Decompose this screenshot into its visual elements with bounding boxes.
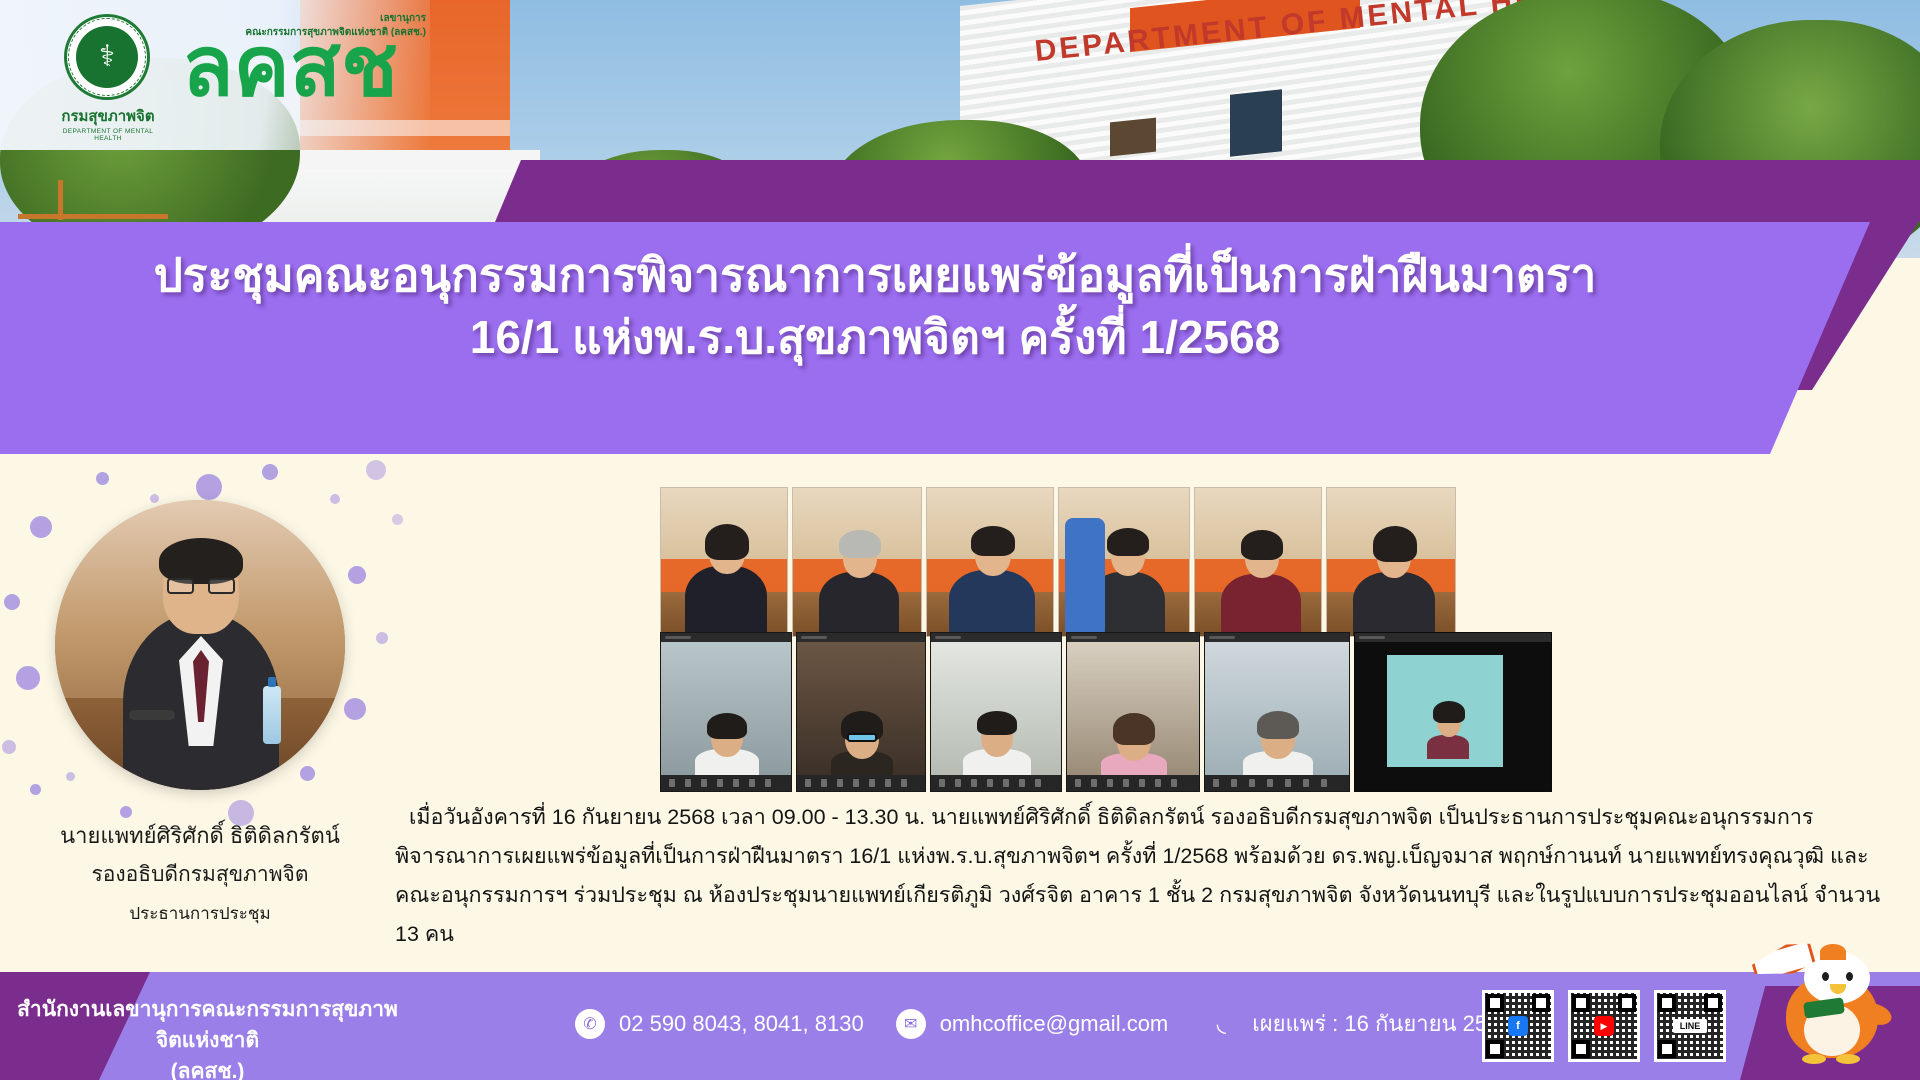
- line-icon: LINE: [1673, 1019, 1707, 1033]
- page-title-line1: ประชุมคณะอนุกรรมการพิจารณาการเผยแพร่ข้อม…: [0, 244, 1750, 306]
- building-window-small: [1110, 118, 1156, 157]
- youtube-icon: ▶: [1594, 1016, 1614, 1036]
- mascot-icon: [1760, 946, 1910, 1080]
- footer-phone[interactable]: 02 590 8043, 8041, 8130: [619, 1011, 864, 1037]
- meeting-description: เมื่อวันอังคารที่ 16 กันยายน 2568 เวลา 0…: [395, 798, 1895, 954]
- chairperson-position: รองอธิบดีกรมสุขภาพจิต: [0, 858, 400, 891]
- meeting-photo: [792, 487, 922, 637]
- facebook-qr[interactable]: f: [1482, 990, 1554, 1062]
- meeting-photo: [1058, 487, 1190, 637]
- seal-caption: กรมสุขภาพจิต DEPARTMENT OF MENTAL HEALTH: [52, 104, 164, 142]
- phone-icon: ✆: [575, 1009, 605, 1039]
- footer-qr-codes: f ▶ LINE: [1482, 990, 1726, 1062]
- chairperson-role: ประธานการประชุม: [0, 900, 400, 927]
- chairperson-avatar: [55, 500, 345, 790]
- rss-icon: ◟: [1204, 1009, 1238, 1039]
- meeting-photo: [660, 487, 788, 637]
- footer-email[interactable]: omhcoffice@gmail.com: [940, 1011, 1169, 1037]
- seal-caption-en: DEPARTMENT OF MENTAL HEALTH: [52, 128, 164, 142]
- title-banner: ประชุมคณะอนุกรรมการพิจารณาการเผยแพร่ข้อม…: [0, 222, 1870, 454]
- footer-organization: สำนักงานเลขานุการคณะกรรมการสุขภาพจิตแห่ง…: [10, 994, 405, 1080]
- online-meeting-photo: [1204, 632, 1350, 792]
- photo-gallery-row-2: [660, 632, 1860, 792]
- line-qr[interactable]: LINE: [1654, 990, 1726, 1062]
- meeting-photo: [1194, 487, 1322, 637]
- chairperson-name: นายแพทย์ศิริศักดิ์ ธิติดิลกรัตน์: [0, 818, 400, 853]
- logo-panel: ⚕ กรมสุขภาพจิต DEPARTMENT OF MENTAL HEAL…: [0, 0, 430, 150]
- email-icon: ✉: [896, 1009, 926, 1039]
- building-window: [1230, 89, 1282, 156]
- online-meeting-photo: [796, 632, 926, 792]
- crane-icon: [18, 214, 168, 219]
- banner-dark-strip: [495, 160, 1920, 222]
- microphone-icon: [129, 710, 175, 720]
- brand-wordmark: ลคสช: [150, 24, 430, 108]
- online-meeting-photo: [1066, 632, 1200, 792]
- online-meeting-photo: [1354, 632, 1552, 792]
- footer-published-date: เผยแพร่ : 16 กันยายน 2568: [1252, 1006, 1511, 1041]
- avatar: [55, 500, 345, 790]
- meeting-photo: [926, 487, 1054, 637]
- facebook-icon: f: [1508, 1016, 1528, 1036]
- footer-contact: ✆ 02 590 8043, 8041, 8130 ✉ omhcoffice@g…: [575, 1006, 1512, 1041]
- page-title: ประชุมคณะอนุกรรมการพิจารณาการเผยแพร่ข้อม…: [0, 244, 1750, 368]
- youtube-qr[interactable]: ▶: [1568, 990, 1640, 1062]
- meeting-description-text: เมื่อวันอังคารที่ 16 กันยายน 2568 เวลา 0…: [395, 798, 1895, 954]
- photo-gallery-row-1: [660, 487, 1860, 637]
- glasses-icon: [167, 578, 235, 594]
- meeting-photo: [1326, 487, 1456, 637]
- footer-org-line1: สำนักงานเลขานุการคณะกรรมการสุขภาพจิตแห่ง…: [10, 994, 405, 1056]
- online-meeting-photo: [930, 632, 1062, 792]
- online-meeting-photo: [660, 632, 792, 792]
- page-title-line2: 16/1 แห่งพ.ร.บ.สุขภาพจิตฯ ครั้งที่ 1/256…: [0, 306, 1750, 368]
- footer-org-line2: (ลคสช.): [10, 1056, 405, 1080]
- seal-caption-th: กรมสุขภาพจิต: [61, 108, 154, 125]
- seal-ring: [68, 18, 146, 96]
